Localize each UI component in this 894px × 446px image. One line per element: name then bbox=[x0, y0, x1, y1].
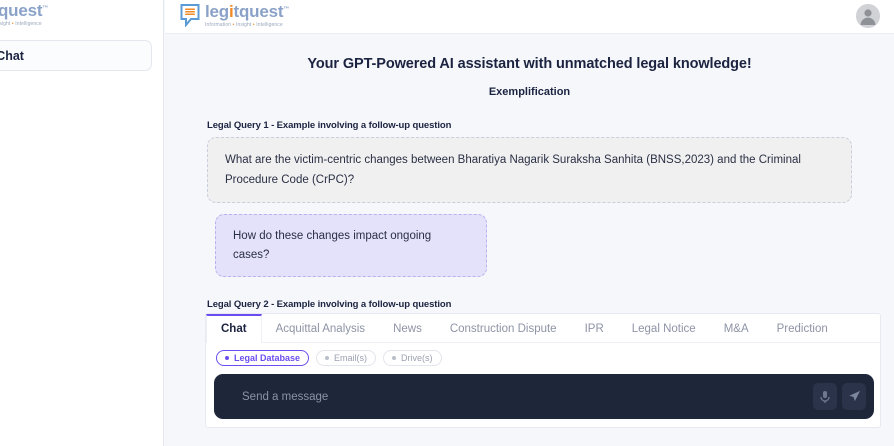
tab-news-label: News bbox=[393, 323, 422, 335]
tab-prediction[interactable]: Prediction bbox=[763, 314, 842, 342]
new-chat-label: New Chat bbox=[0, 49, 24, 63]
header-tagline-word-2: Insight bbox=[236, 22, 251, 28]
user-avatar[interactable] bbox=[856, 4, 880, 28]
tab-news[interactable]: News bbox=[379, 314, 436, 342]
chip-legal-database[interactable]: Legal Database bbox=[216, 350, 309, 366]
chip-legal-database-label: Legal Database bbox=[234, 353, 300, 363]
chip-emails[interactable]: Email(s) bbox=[316, 350, 376, 366]
tab-chat-label: Chat bbox=[221, 323, 247, 335]
message-input-bar[interactable]: Send a message bbox=[214, 374, 874, 419]
top-header-bar: legitquest™ Information • Insight • Inte… bbox=[165, 0, 894, 34]
header-brand-logo[interactable]: legitquest™ Information • Insight • Inte… bbox=[180, 3, 289, 28]
header-wordmark: legitquest™ bbox=[205, 3, 289, 20]
sidebar-brand-logo[interactable]: legitquest™ Information • Insight • Inte… bbox=[0, 2, 76, 30]
tab-acquittal-analysis[interactable]: Acquittal Analysis bbox=[262, 314, 380, 342]
header-tagline-word-1: Information bbox=[205, 22, 231, 28]
tab-legal-notice-label: Legal Notice bbox=[632, 323, 696, 335]
chip-drives-dot-icon bbox=[392, 356, 396, 360]
user-avatar-icon bbox=[856, 4, 880, 28]
send-button[interactable] bbox=[842, 383, 866, 410]
chip-emails-label: Email(s) bbox=[334, 353, 367, 363]
sidebar-tagline: Information • Insight • Intelligence bbox=[0, 21, 76, 27]
main-panel: legitquest™ Information • Insight • Inte… bbox=[165, 0, 894, 446]
composer-panel: Chat Acquittal Analysis News Constructio… bbox=[205, 313, 881, 428]
tab-ipr-label: IPR bbox=[585, 323, 604, 335]
chip-emails-dot-icon bbox=[325, 356, 329, 360]
tagline-word-2: Insight bbox=[0, 21, 10, 27]
query-1-followup-text: How do these changes impact ongoing case… bbox=[215, 214, 487, 277]
microphone-icon bbox=[819, 390, 831, 404]
query-2-label: Legal Query 2 - Example involving a foll… bbox=[207, 299, 852, 310]
page-subtitle: Exemplification bbox=[165, 86, 894, 98]
tab-ma[interactable]: M&A bbox=[710, 314, 763, 342]
query-1-label: Legal Query 1 - Example involving a foll… bbox=[207, 120, 852, 131]
page-title: Your GPT-Powered AI assistant with unmat… bbox=[165, 56, 894, 72]
composer-tabs: Chat Acquittal Analysis News Constructio… bbox=[206, 314, 880, 343]
tab-construction-dispute[interactable]: Construction Dispute bbox=[436, 314, 571, 342]
query-1-followup-wrap: How do these changes impact ongoing case… bbox=[215, 214, 852, 277]
header-trademark-symbol: ™ bbox=[283, 6, 289, 12]
sidebar-wordmark: legitquest™ bbox=[0, 2, 76, 19]
query-example-1: Legal Query 1 - Example involving a foll… bbox=[207, 120, 852, 277]
sidebar: legitquest™ Information • Insight • Inte… bbox=[0, 0, 164, 446]
tab-acquittal-analysis-label: Acquittal Analysis bbox=[276, 323, 366, 335]
source-chip-row: Legal Database Email(s) Drive(s) bbox=[206, 343, 880, 366]
message-input-placeholder: Send a message bbox=[242, 391, 808, 403]
header-wordmark-part-2: tquest bbox=[234, 2, 284, 21]
chip-drives[interactable]: Drive(s) bbox=[383, 350, 442, 366]
book-speech-bubble-icon bbox=[180, 4, 201, 27]
microphone-button[interactable] bbox=[813, 383, 837, 410]
tab-prediction-label: Prediction bbox=[777, 323, 828, 335]
wordmark-part-2: tquest bbox=[0, 1, 42, 20]
tab-ipr[interactable]: IPR bbox=[571, 314, 618, 342]
tab-legal-notice[interactable]: Legal Notice bbox=[618, 314, 710, 342]
tab-construction-dispute-label: Construction Dispute bbox=[450, 323, 557, 335]
app-root: legitquest™ Information • Insight • Inte… bbox=[0, 0, 894, 446]
tab-chat[interactable]: Chat bbox=[206, 314, 262, 343]
header-tagline: Information • Insight • Intelligence bbox=[205, 22, 289, 28]
header-tagline-word-3: Intelligence bbox=[256, 22, 283, 28]
trademark-symbol: ™ bbox=[42, 5, 48, 11]
header-wordmark-part-1: leg bbox=[205, 2, 229, 21]
chip-legal-database-dot-icon bbox=[225, 356, 229, 360]
new-chat-button[interactable]: New Chat bbox=[0, 40, 152, 71]
query-1-text: What are the victim-centric changes betw… bbox=[207, 137, 852, 203]
tagline-word-3: Intelligence bbox=[15, 21, 42, 27]
send-paper-plane-icon bbox=[848, 390, 861, 403]
chip-drives-label: Drive(s) bbox=[401, 353, 433, 363]
tab-ma-label: M&A bbox=[724, 323, 749, 335]
